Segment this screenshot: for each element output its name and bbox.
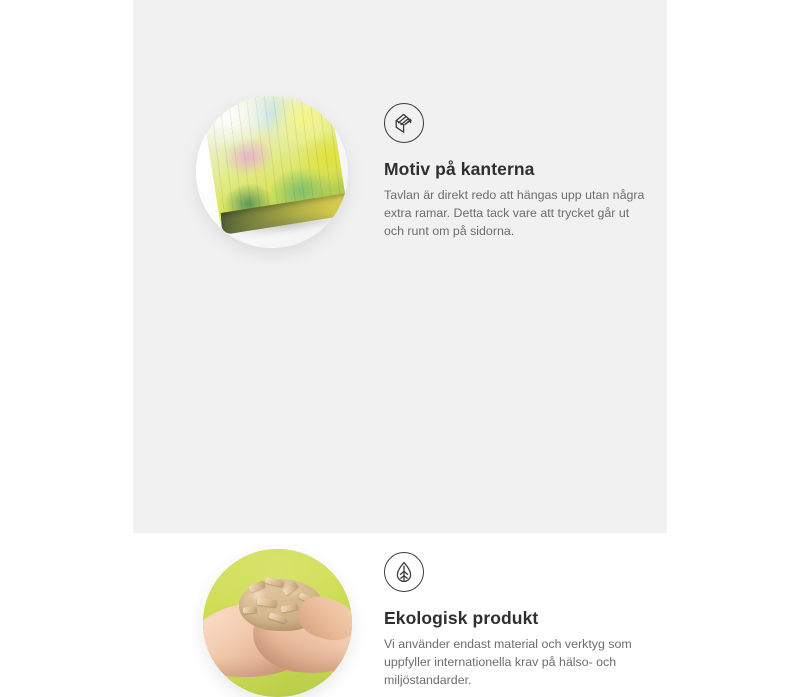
- leaf-icon: [384, 552, 424, 592]
- canvas-wrapped-edge-icon: [384, 103, 424, 143]
- feature-description: Vi använder endast material och verktyg …: [384, 636, 646, 690]
- feature-description: Tavlan är direkt redo att hängas upp uta…: [384, 187, 646, 241]
- product-feature-banner: Motiv på kanterna Tavlan är direkt redo …: [0, 0, 800, 533]
- canvas-object: [201, 96, 348, 248]
- content-panel: Motiv på kanterna Tavlan är direkt redo …: [133, 0, 667, 533]
- canvas-corner-photo: [196, 96, 348, 248]
- feature-copy-eco: Ekologisk produkt Vi använder endast mat…: [384, 552, 654, 690]
- feature-title: Ekologisk produkt: [384, 608, 654, 629]
- feature-title: Motiv på kanterna: [384, 159, 654, 180]
- hands-with-wood-chips-photo: [203, 549, 352, 697]
- feature-block-eco: Ekologisk produkt Vi använder endast mat…: [133, 266, 667, 533]
- feature-copy-edges: Motiv på kanterna Tavlan är direkt redo …: [384, 103, 654, 241]
- feature-block-edges: Motiv på kanterna Tavlan är direkt redo …: [133, 0, 667, 266]
